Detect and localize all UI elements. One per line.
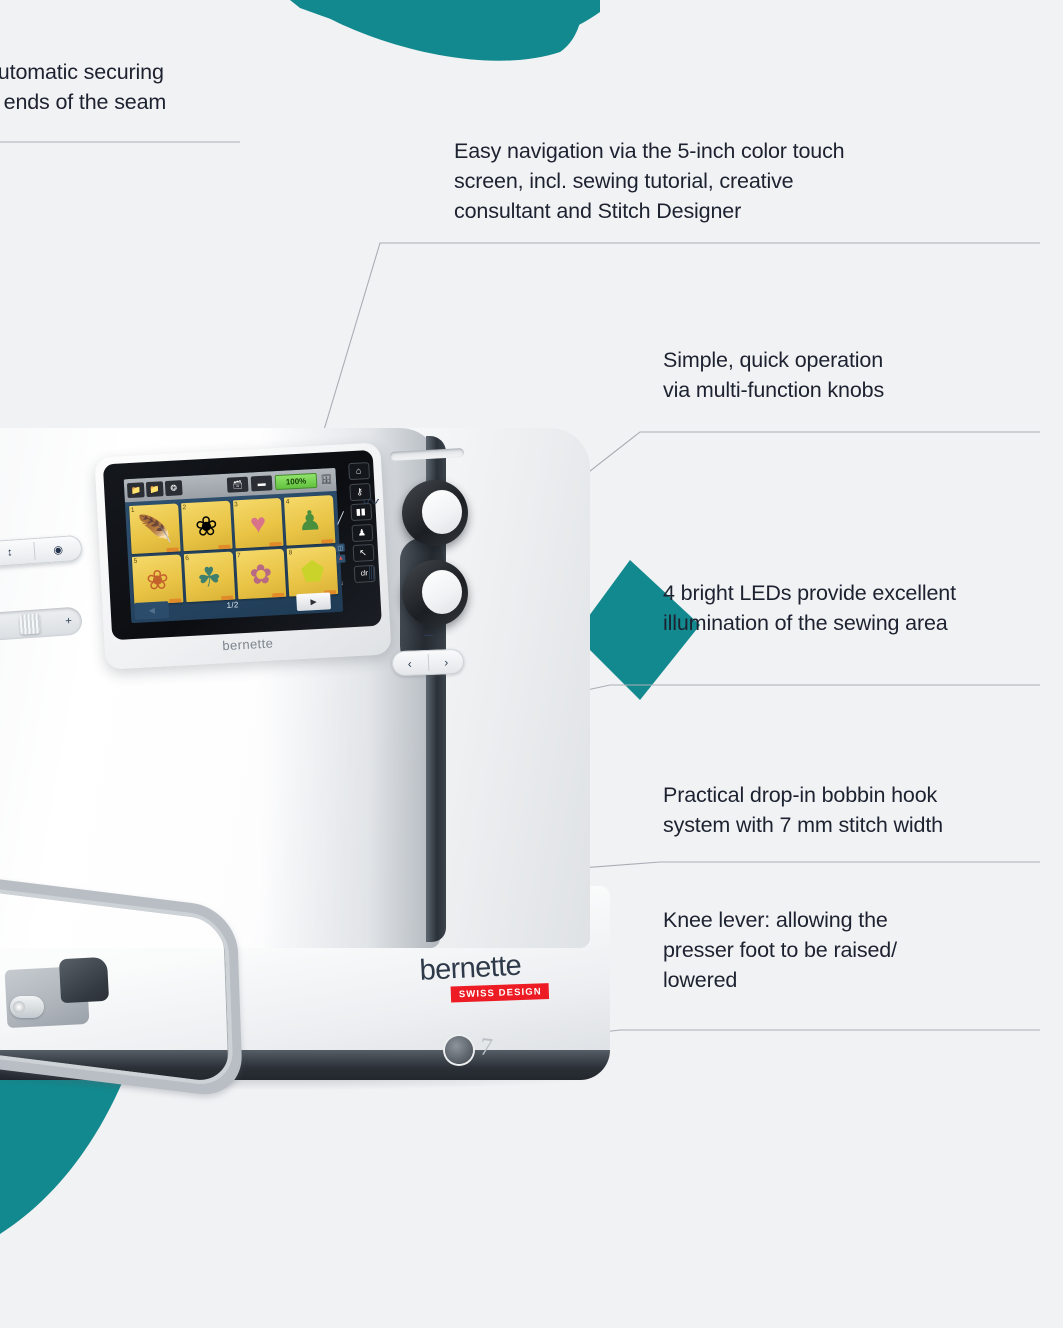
lettering-motif-icon: ⬟ bbox=[300, 558, 325, 586]
motif-number: 1 bbox=[131, 507, 135, 514]
home-key[interactable]: ⌂ bbox=[348, 462, 370, 480]
stitch-length-icon: ⫼ bbox=[368, 566, 375, 581]
motif-card[interactable]: 2 ❀ bbox=[181, 501, 232, 552]
callout-knobs: Simple, quick operation via multi-functi… bbox=[663, 345, 1053, 405]
brand-name: bernette bbox=[419, 949, 570, 986]
stitch-length-knob[interactable] bbox=[402, 560, 468, 626]
brand-logo: bernette SWISS DESIGN bbox=[419, 949, 571, 1004]
eco-key[interactable]: ↖ bbox=[352, 544, 374, 562]
bag-icon[interactable]: 🗄 bbox=[320, 472, 334, 488]
motif-card[interactable]: 4 ♟ bbox=[284, 495, 335, 546]
usb-stick-icon[interactable]: ▬ bbox=[251, 475, 273, 491]
needle-left-button[interactable]: ‹ bbox=[392, 650, 428, 676]
card-tab bbox=[166, 547, 178, 552]
needle-updown-button[interactable]: ↕ bbox=[0, 538, 34, 567]
motif-number: 2 bbox=[182, 504, 186, 511]
next-page-button[interactable]: ▶ bbox=[296, 592, 331, 611]
callout-bobbin: Practical drop-in bobbin hook system wit… bbox=[663, 780, 1058, 840]
callout-touchscreen-text: Easy navigation via the 5-inch color tou… bbox=[454, 136, 1014, 226]
card-icon[interactable]: 🗃 bbox=[227, 477, 249, 493]
touchscreen-assembly[interactable]: 📁 📁 ❂ 🗃 ▬ 100% 🗄 bbox=[94, 442, 391, 669]
callout-securing-text: automatic securing e ends of the seam bbox=[0, 57, 246, 117]
securing-button[interactable]: ◉ bbox=[34, 535, 83, 564]
stitch-width-icon: 〰 bbox=[362, 494, 379, 511]
hoop-attachment-bracket bbox=[59, 957, 109, 1003]
fruit-motif-icon: ❀ bbox=[146, 567, 170, 595]
knee-lever-port[interactable] bbox=[445, 1036, 473, 1064]
knob-face bbox=[422, 570, 462, 614]
brand-tagline: SWISS DESIGN bbox=[451, 983, 549, 1002]
creative-consultant-key[interactable]: ♟ bbox=[351, 523, 373, 541]
slider-grip[interactable] bbox=[19, 613, 40, 634]
callout-knee-lever: Knee lever: allowing the presser foot to… bbox=[663, 905, 1058, 995]
robot-motif-icon: ♟ bbox=[297, 507, 323, 535]
zoom-level-badge: 100% bbox=[275, 473, 318, 490]
callout-leds: 4 bright LEDs provide excellent illumina… bbox=[663, 578, 1058, 638]
callout-touchscreen: Easy navigation via the 5-inch color tou… bbox=[454, 136, 1014, 226]
butterfly-icon[interactable]: ❂ bbox=[165, 480, 183, 496]
motif-number: 7 bbox=[237, 552, 241, 559]
needle-position-icon: ⚊ bbox=[423, 626, 434, 638]
folder-icon[interactable]: 📁 bbox=[127, 482, 145, 498]
tree-motif-icon: ☘ bbox=[196, 564, 222, 592]
card-tab bbox=[270, 542, 282, 547]
motif-number: 4 bbox=[286, 498, 290, 505]
hoop-tension-screw[interactable] bbox=[10, 996, 44, 1018]
screen-black-frame: 📁 📁 ❂ 🗃 ▬ 100% 🗄 bbox=[103, 450, 382, 640]
thread-color-icon[interactable]: ▲ bbox=[336, 554, 345, 562]
knob-face bbox=[422, 490, 462, 534]
feather-motif-icon: 🪶 bbox=[137, 515, 172, 544]
presser-foot-icon: ↓ bbox=[337, 579, 346, 587]
embroidery-hoop bbox=[0, 880, 290, 1110]
callout-knee-lever-text: Knee lever: allowing the presser foot to… bbox=[663, 905, 1058, 995]
lace-medallion-motif-icon: ❀ bbox=[194, 513, 218, 541]
pencil-icon[interactable]: ╱ bbox=[336, 513, 345, 521]
teal-wave-top bbox=[290, 0, 600, 46]
motif-number: 8 bbox=[288, 549, 292, 556]
reposition-icon[interactable]: ◫ bbox=[335, 543, 344, 551]
callout-knobs-text: Simple, quick operation via multi-functi… bbox=[663, 345, 1053, 405]
heart-needle-motif-icon: ♥ bbox=[249, 510, 266, 538]
card-tab bbox=[218, 545, 230, 550]
folder-icon[interactable]: 📁 bbox=[146, 481, 164, 497]
callout-securing: automatic securing e ends of the seam bbox=[0, 57, 246, 117]
motif-card[interactable]: 3 ♥ bbox=[232, 498, 283, 549]
card-tab bbox=[321, 539, 333, 544]
callout-bobbin-text: Practical drop-in bobbin hook system wit… bbox=[663, 780, 1058, 840]
needle-right-button[interactable]: › bbox=[428, 649, 464, 675]
motif-number: 3 bbox=[234, 501, 238, 508]
needle-position-buttons[interactable]: ‹ › bbox=[392, 649, 465, 676]
callout-leds-text: 4 bright LEDs provide excellent illumina… bbox=[663, 578, 1058, 638]
speed-plus-label: + bbox=[65, 615, 72, 627]
floral-swirl-motif-icon: ✿ bbox=[249, 561, 273, 589]
motif-number: 5 bbox=[133, 558, 137, 565]
motif-card[interactable]: 1 🪶 bbox=[129, 503, 180, 554]
stitch-width-knob[interactable] bbox=[402, 480, 468, 546]
brochure-page: ↕ ◉ − + 📁 📁 ❂ bbox=[0, 0, 1063, 1328]
motif-number: 6 bbox=[185, 555, 189, 562]
lcd-display[interactable]: 📁 📁 ❂ 🗃 ▬ 100% 🗄 bbox=[124, 468, 343, 623]
